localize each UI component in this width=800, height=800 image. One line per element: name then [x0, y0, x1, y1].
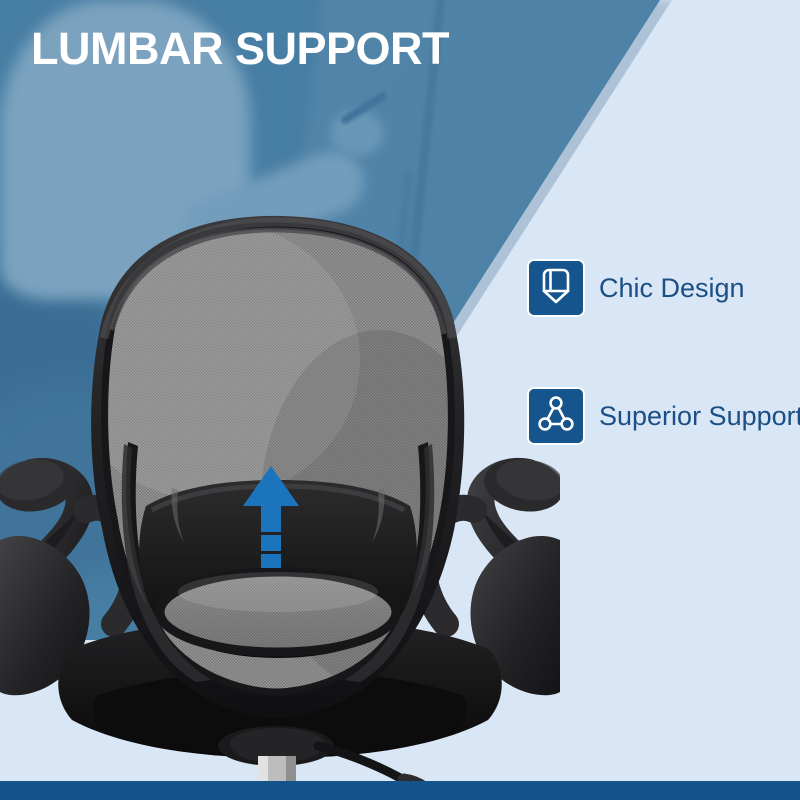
feature-label: Superior Support	[599, 403, 800, 430]
feature-label: Chic Design	[599, 275, 745, 302]
page-title: LUMBAR SUPPORT	[31, 26, 449, 71]
product-feature-poster: LUMBAR SUPPORT Chic Design	[0, 0, 800, 800]
bottom-accent-bar	[0, 781, 800, 800]
arrow-shaft-segment	[261, 506, 281, 532]
arrow-head	[243, 466, 299, 506]
arrow-shaft-segment	[261, 554, 281, 568]
arrow-shaft-segment	[261, 535, 281, 551]
feature-item-superior-support: Superior Support	[527, 387, 800, 445]
up-arrow-icon	[243, 466, 299, 570]
